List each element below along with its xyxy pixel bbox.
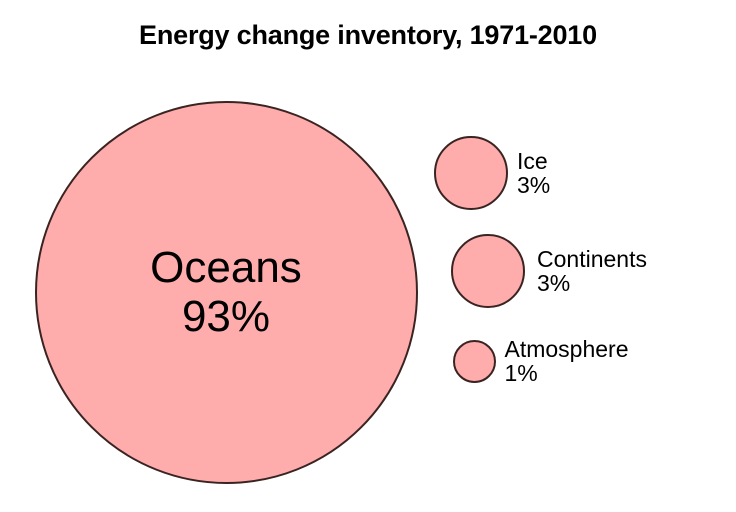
chart-title: Energy change inventory, 1971-2010	[0, 20, 736, 51]
bubble-ice-value: 3%	[517, 173, 550, 197]
bubble-atmosphere-label: Atmosphere 1%	[505, 337, 629, 385]
bubble-atmosphere-value: 1%	[505, 361, 629, 385]
bubble-atmosphere[interactable]	[453, 340, 496, 383]
bubble-continents[interactable]	[451, 234, 525, 308]
bubble-atmosphere-name: Atmosphere	[505, 337, 629, 361]
bubble-continents-value: 3%	[537, 271, 647, 295]
bubble-oceans[interactable]: Oceans 93%	[35, 101, 418, 484]
bubble-oceans-label: Oceans 93%	[37, 103, 416, 482]
bubble-oceans-name: Oceans	[150, 243, 302, 292]
bubble-ice[interactable]	[434, 136, 508, 210]
bubble-ice-label: Ice 3%	[517, 149, 550, 197]
bubble-ice-name: Ice	[517, 149, 550, 173]
bubble-oceans-value: 93%	[182, 292, 270, 341]
bubble-continents-name: Continents	[537, 247, 647, 271]
chart-canvas: Energy change inventory, 1971-2010 Ocean…	[0, 0, 736, 512]
bubble-continents-label: Continents 3%	[537, 247, 647, 295]
